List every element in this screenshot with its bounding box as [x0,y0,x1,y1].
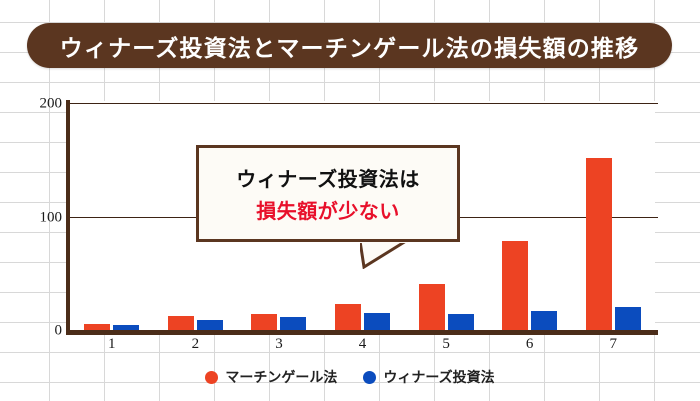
legend-label-martingale: マーチンゲール法 [225,367,337,387]
bar-martingale-3 [251,314,277,330]
bar-martingale-6 [502,241,528,330]
chart-title-pill: ウィナーズ投資法とマーチンゲール法の損失額の推移 [27,23,672,68]
bar-group-1 [70,101,154,330]
circle-marker-icon-winners [363,371,376,384]
bar-group-7 [571,101,655,330]
bar-winners-1 [113,325,139,330]
y-tick-100: 100 [40,210,63,227]
bar-winners-6 [531,311,557,330]
bar-winners-2 [197,320,223,330]
bar-martingale-2 [168,316,194,330]
callout-tail [360,241,416,269]
bar-winners-5 [448,314,474,330]
x-tick-6: 6 [488,336,572,360]
circle-marker-icon-martingale [205,371,218,384]
bar-martingale-7 [586,158,612,330]
bar-group-6 [488,101,572,330]
y-tick-0: 0 [55,323,63,340]
x-tick-4: 4 [321,336,405,360]
bar-martingale-5 [419,284,445,330]
y-tick-200: 200 [40,96,63,113]
legend-item-winners: ウィナーズ投資法 [363,367,494,387]
x-tick-5: 5 [404,336,488,360]
legend-item-martingale: マーチンゲール法 [205,367,337,387]
callout-line-1: ウィナーズ投資法は [236,163,420,192]
bar-winners-4 [364,313,390,330]
x-tick-1: 1 [70,336,154,360]
page-title: ウィナーズ投資法とマーチンゲール法の損失額の推移 [60,29,640,63]
x-axis-tick-labels: 1 2 3 4 5 6 7 [70,336,655,360]
x-axis-line [66,330,658,335]
x-tick-2: 2 [154,336,238,360]
bar-winners-7 [615,307,641,330]
callout-line-2: 損失額が少ない [256,195,400,224]
x-tick-7: 7 [571,336,655,360]
bar-martingale-4 [335,304,361,330]
legend-label-winners: ウィナーズ投資法 [383,367,494,387]
bar-martingale-1 [84,324,110,330]
chart-legend: マーチンゲール法 ウィナーズ投資法 [0,364,700,390]
bar-winners-3 [280,317,306,330]
x-tick-3: 3 [237,336,321,360]
callout-box: ウィナーズ投資法は 損失額が少ない [196,145,460,242]
